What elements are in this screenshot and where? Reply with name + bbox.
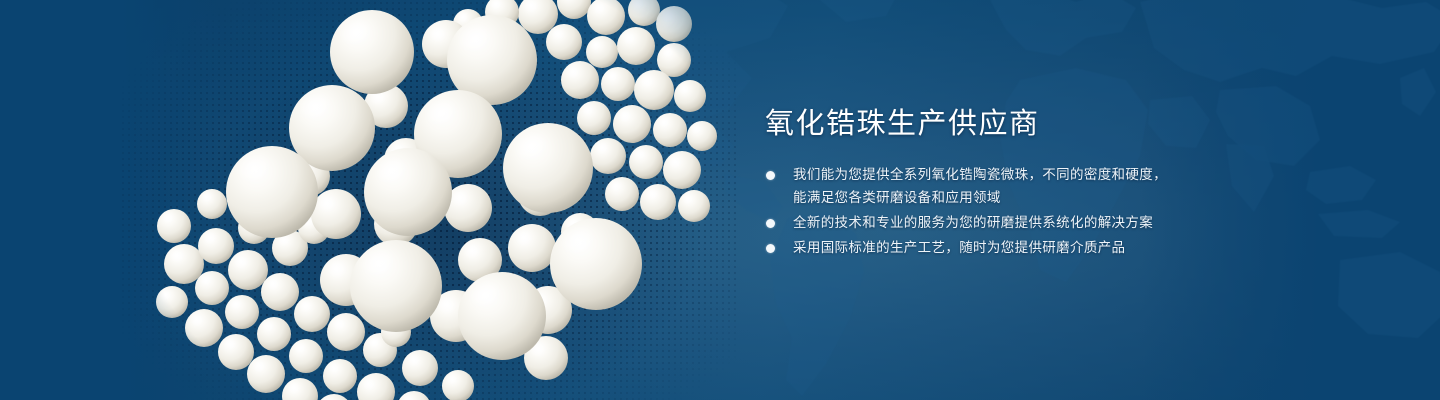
bullet-dot-icon bbox=[766, 244, 775, 253]
bullet-line: 我们能为您提供全系列氧化锆陶瓷微珠，不同的密度和硬度， bbox=[793, 164, 1405, 187]
banner-copy: 氧化锆珠生产供应商 我们能为您提供全系列氧化锆陶瓷微珠，不同的密度和硬度， 能满… bbox=[765, 104, 1405, 261]
list-item: 全新的技术和专业的服务为您的研磨提供系统化的解决方案 bbox=[765, 212, 1405, 235]
bullet-line: 采用国际标准的生产工艺，随时为您提供研磨介质产品 bbox=[793, 237, 1405, 260]
list-item: 我们能为您提供全系列氧化锆陶瓷微珠，不同的密度和硬度， 能满足您各类研磨设备和应… bbox=[765, 164, 1405, 209]
page-title: 氧化锆珠生产供应商 bbox=[765, 104, 1405, 144]
bullet-line: 能满足您各类研磨设备和应用领域 bbox=[793, 187, 1405, 210]
feature-bullet-list: 我们能为您提供全系列氧化锆陶瓷微珠，不同的密度和硬度， 能满足您各类研磨设备和应… bbox=[765, 164, 1405, 259]
bullet-dot-icon bbox=[766, 219, 775, 228]
bullet-line: 全新的技术和专业的服务为您的研磨提供系统化的解决方案 bbox=[793, 212, 1405, 235]
bullet-dot-icon bbox=[766, 171, 775, 180]
list-item: 采用国际标准的生产工艺，随时为您提供研磨介质产品 bbox=[765, 237, 1405, 260]
zirconia-beads-photo bbox=[150, 0, 730, 400]
hero-banner: 氧化锆珠生产供应商 我们能为您提供全系列氧化锆陶瓷微珠，不同的密度和硬度， 能满… bbox=[0, 0, 1440, 400]
